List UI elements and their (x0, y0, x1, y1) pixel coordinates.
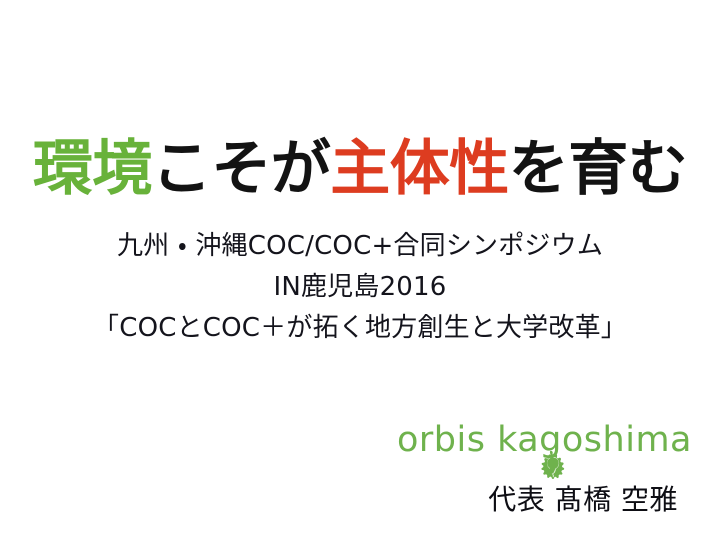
title-segment-black-2: を育む (509, 134, 688, 204)
title-segment-black-1: こそが (152, 134, 331, 204)
presenter-name: 代表 髙橋 空雅 (488, 482, 678, 518)
orbis-kagoshima-logo: orbis kagoshima (422, 418, 692, 478)
subtitle-line-3: 「COCとCOC＋が拓く地方創生と大学改革」 (0, 308, 720, 349)
title-segment-green: 環境 (33, 134, 152, 204)
subtitle-block: 九州 ・ 沖縄COC/COC+合同シンポジウム IN鹿児島2016 「COCとC… (0, 226, 720, 349)
subtitle-line-2: IN鹿児島2016 (0, 267, 720, 308)
kyushu-island-map-icon (540, 450, 566, 480)
subtitle-line-1: 九州 ・ 沖縄COC/COC+合同シンポジウム (0, 226, 720, 267)
page-title: 環境こそが主体性を育む (0, 136, 720, 203)
title-slide: 環境こそが主体性を育む 九州 ・ 沖縄COC/COC+合同シンポジウム IN鹿児… (0, 0, 720, 540)
title-segment-red: 主体性 (330, 134, 509, 204)
